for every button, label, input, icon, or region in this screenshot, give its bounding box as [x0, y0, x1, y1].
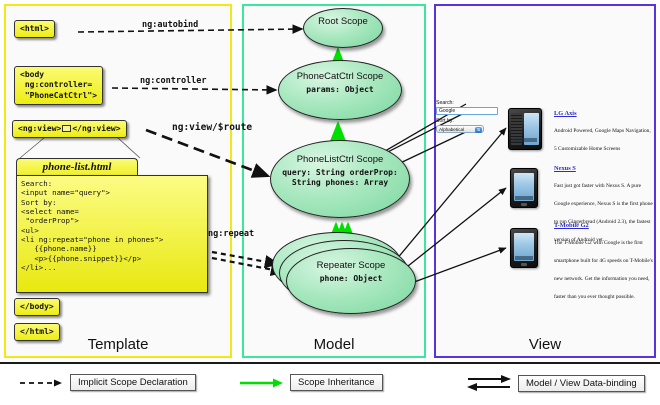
legend-label-model-view-data-binding: Model / View Data-binding — [518, 375, 645, 392]
legend-item-model-view-data-binding: Model / View Data-binding — [466, 374, 645, 392]
chip-ngview-close: </ng:view> — [72, 124, 120, 133]
chip-body-open: <body ng:controller= "PhoneCatCtrl"> — [14, 66, 103, 105]
chip-html-close: </html> — [14, 323, 60, 341]
scope-phonecatctrl: PhoneCatCtrl Scope params: Object — [278, 60, 402, 120]
scope-repeater: Repeater Scope phone: Object — [286, 248, 416, 314]
legend-label-implicit-scope-declaration: Implicit Scope Declaration — [70, 374, 196, 391]
phone-thumbnail-2 — [510, 168, 538, 208]
double-arrow-icon — [466, 374, 512, 392]
ngview-placeholder-box — [62, 125, 71, 132]
phone-home-button — [521, 203, 527, 206]
chip-html-open: <html> — [14, 20, 55, 38]
sort-label: Sort by: — [436, 118, 502, 124]
phone-dock — [515, 196, 533, 200]
phone-home-button — [521, 263, 527, 266]
edge-label-autobind: ng:autobind — [142, 20, 198, 30]
scope-repeater-title: Repeater Scope — [287, 261, 415, 272]
edge-label-ngrepeat: ng:repeat — [208, 229, 254, 239]
scope-phonelistctrl-title: PhoneListCtrl Scope — [271, 155, 409, 166]
phone-list-item-3[interactable]: T-Mobile G2 The T-Mobile G2 with Google … — [554, 222, 654, 303]
legend-label-scope-inheritance: Scope Inheritance — [290, 374, 383, 391]
chevron-updown-icon: ⇅ — [475, 127, 482, 133]
green-arrow-icon — [238, 377, 284, 389]
sort-by-value: Alphabetical — [439, 127, 464, 132]
legend-item-implicit-scope-declaration: Implicit Scope Declaration — [18, 374, 196, 391]
chip-body-close: </body> — [14, 298, 60, 316]
edge-label-ngview-route: ng:view/$route — [172, 122, 252, 133]
search-label: Search: — [436, 100, 502, 106]
code-panel-source: Search: <input name="query"> Sort by: <s… — [16, 175, 208, 293]
edge-label-controller: ng:controller — [140, 76, 207, 86]
scope-repeater-props: phone: Object — [287, 274, 415, 284]
legend-item-scope-inheritance: Scope Inheritance — [238, 374, 383, 391]
scope-phonelistctrl: PhoneListCtrl Scope query: String orderP… — [270, 140, 410, 218]
sort-by-select[interactable]: Alphabetical⇅ — [436, 125, 484, 133]
phone-dock — [513, 138, 537, 142]
code-panel-filename: phone-list.html — [16, 158, 138, 176]
legend: Implicit Scope Declaration Scope Inherit… — [0, 362, 660, 405]
phone-list-item-1[interactable]: LG Axis Android Powered, Google Maps Nav… — [554, 110, 654, 155]
scope-phonelistctrl-props: query: String orderProp: String phones: … — [271, 168, 409, 188]
search-input[interactable]: Google — [436, 107, 498, 115]
dashed-arrow-icon — [18, 377, 64, 389]
scope-root: Root Scope — [303, 8, 383, 48]
phone-thumbnail-3 — [510, 228, 538, 268]
panel-view-label: View — [436, 336, 654, 353]
phone-thumbnail-1 — [508, 108, 542, 150]
phone-snippet: Android Powered, Google Maps Navigation,… — [554, 128, 651, 152]
scope-root-title: Root Scope — [304, 17, 382, 28]
phone-name-link[interactable]: Nexus S — [554, 165, 654, 172]
chip-ngview-open: <ng:view> — [18, 124, 61, 133]
code-panel-phone-list: phone-list.html Search: <input name="que… — [16, 158, 208, 293]
scope-phonecatctrl-props: params: Object — [279, 85, 401, 95]
panel-model-label: Model — [244, 336, 424, 353]
view-search-form: Search: Google Sort by: Alphabetical⇅ — [436, 100, 502, 133]
scope-phonecatctrl-title: PhoneCatCtrl Scope — [279, 72, 401, 83]
diagram-canvas: Template Model View — [0, 0, 660, 405]
phone-name-link[interactable]: T-Mobile G2 — [554, 222, 654, 229]
phone-name-link[interactable]: LG Axis — [554, 110, 654, 117]
chip-ngview: <ng:view></ng:view> — [12, 120, 127, 138]
phone-dock — [515, 256, 533, 260]
phone-snippet: The T-Mobile G2 with Google is the first… — [554, 240, 653, 300]
